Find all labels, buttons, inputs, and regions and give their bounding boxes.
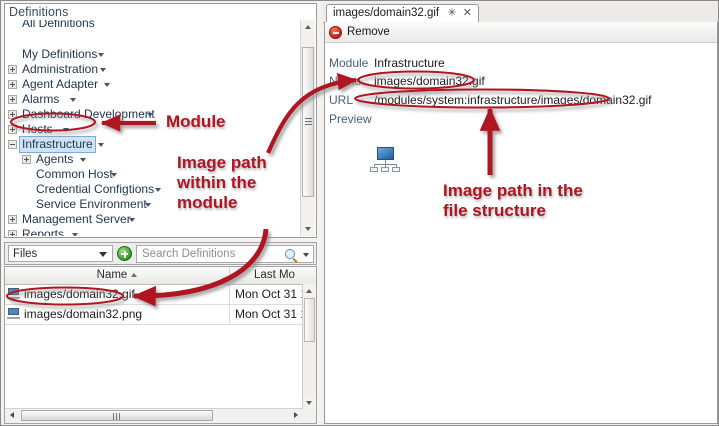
tree-node-label: Infrastructure	[20, 137, 95, 152]
scroll-left-button[interactable]	[5, 409, 19, 423]
tree-node-management-server[interactable]: Management Server	[6, 212, 315, 227]
tree-node-label: Dashboard Development	[22, 107, 155, 122]
expander-plus-icon[interactable]	[8, 95, 17, 104]
table-row[interactable]: images/domain32.gif Mon Oct 31 10:	[5, 284, 316, 305]
column-header-label: Name	[97, 269, 128, 281]
tree-node-all-definitions[interactable]: All Definitions	[6, 20, 315, 35]
editor-toolbar: Remove	[325, 22, 717, 43]
expander-plus-icon[interactable]	[22, 155, 31, 164]
files-table-header: Name Last Mo	[5, 267, 316, 285]
search-input[interactable]: Search Definitions	[136, 245, 314, 263]
tree-node-dashboard-development[interactable]: Dashboard Development	[6, 107, 315, 122]
field-label: Name	[329, 73, 361, 89]
application-window: Definitions All Definitions My Definitio…	[0, 0, 719, 426]
chevron-down-icon[interactable]	[72, 233, 78, 236]
tree-node-my-definitions[interactable]: My Definitions	[6, 47, 315, 62]
grip-icon	[113, 413, 121, 420]
tree-node-label: Administration	[22, 62, 98, 77]
column-header-label: Last Mo	[254, 269, 295, 281]
tree-node-label: Agent Adapter	[22, 77, 98, 92]
domain-network-preview-icon	[370, 147, 400, 172]
tree-node-alarms[interactable]: Alarms	[6, 92, 315, 107]
tree-node-administration[interactable]: Administration	[6, 62, 315, 77]
tree-node-label: Common Host	[36, 167, 113, 182]
tab-strip: images/domain32.gif ✳ ✕	[323, 2, 719, 23]
tree-node-label: Management Server	[22, 212, 131, 227]
files-toolbar: Files Search Definitions	[4, 242, 317, 265]
tree-node-label: Agents	[36, 152, 73, 167]
tree-node-label: My Definitions	[22, 47, 97, 62]
triangle-left-icon	[10, 412, 14, 418]
tree-node-label: All Definitions	[22, 20, 95, 31]
tree-node-service-environment[interactable]: Service Environment	[6, 197, 315, 212]
expander-plus-icon[interactable]	[8, 215, 17, 224]
file-name-text: images/domain32.gif	[24, 287, 135, 301]
triangle-up-icon	[305, 25, 311, 29]
chevron-down-icon[interactable]	[129, 218, 135, 222]
tree-node-label: Alarms	[22, 92, 59, 107]
definitions-panel-title: Definitions	[9, 5, 68, 19]
column-header-name[interactable]: Name	[5, 267, 230, 284]
left-column: Definitions All Definitions My Definitio…	[2, 2, 319, 425]
triangle-right-icon	[294, 412, 298, 418]
tree-node-infrastructure[interactable]: Infrastructure	[6, 137, 315, 152]
field-value: /modules/system:infrastructure/images/do…	[374, 92, 651, 108]
search-placeholder: Search Definitions	[142, 248, 235, 260]
files-horizontal-scrollbar[interactable]	[5, 408, 303, 423]
file-name-cell[interactable]: images/domain32.png	[5, 304, 230, 324]
editor-column: images/domain32.gif ✳ ✕ Remove Module In…	[323, 2, 719, 425]
file-name-text: images/domain32.png	[24, 307, 142, 321]
tree-node-agent-adapter[interactable]: Agent Adapter	[6, 77, 315, 92]
expander-minus-icon[interactable]	[8, 140, 17, 149]
definitions-tree-scroll-area[interactable]: All Definitions My Definitions Administr…	[6, 20, 315, 236]
expander-plus-icon[interactable]	[8, 125, 17, 134]
tree-node-hosts[interactable]: Hosts	[6, 122, 315, 137]
chevron-down-icon[interactable]	[155, 188, 161, 192]
field-value: images/domain32.gif	[374, 73, 485, 89]
chevron-down-icon[interactable]	[100, 68, 106, 72]
triangle-down-icon	[306, 401, 312, 405]
chevron-down-icon[interactable]	[111, 173, 117, 177]
remove-button-label: Remove	[347, 26, 390, 38]
field-label: Module	[329, 55, 368, 71]
tree-node-common-host[interactable]: Common Host	[6, 167, 315, 182]
tree-node-label: Reports	[22, 227, 64, 236]
triangle-down-icon	[305, 227, 311, 231]
file-name-cell[interactable]: images/domain32.gif	[5, 284, 230, 304]
column-header-last-modified[interactable]: Last Mo	[231, 267, 318, 284]
files-scroll-thumb[interactable]	[304, 298, 315, 342]
scroll-down-button[interactable]	[303, 396, 316, 409]
scroll-down-button[interactable]	[301, 222, 315, 236]
scroll-right-button[interactable]	[289, 409, 303, 423]
chevron-down-icon	[99, 252, 107, 257]
tree-node-reports[interactable]: Reports	[6, 227, 315, 236]
expander-plus-icon[interactable]	[8, 80, 17, 89]
files-filter-dropdown[interactable]: Files	[8, 245, 113, 262]
remove-button[interactable]: Remove	[329, 24, 390, 40]
chevron-down-icon[interactable]	[303, 253, 309, 257]
search-icon[interactable]	[285, 249, 295, 259]
image-file-icon	[7, 308, 20, 319]
tree-scroll-thumb[interactable]	[302, 47, 314, 197]
scroll-up-button[interactable]	[301, 20, 315, 34]
remove-icon	[329, 26, 342, 39]
files-vertical-scrollbar[interactable]	[302, 284, 316, 409]
chevron-down-icon[interactable]	[80, 158, 86, 162]
tab-images-domain32-gif[interactable]: images/domain32.gif ✳ ✕	[326, 4, 479, 23]
chevron-down-icon[interactable]	[98, 53, 104, 57]
grip-icon	[305, 118, 312, 126]
chevron-down-icon[interactable]	[104, 83, 110, 87]
tree-node-agents[interactable]: Agents	[6, 152, 315, 167]
scroll-up-button[interactable]	[303, 284, 316, 297]
close-icon[interactable]: ✕	[463, 7, 472, 19]
chevron-down-icon[interactable]	[145, 203, 151, 207]
tab-label: images/domain32.gif	[333, 7, 439, 19]
files-filter-value: Files	[13, 248, 37, 260]
triangle-up-icon	[306, 289, 312, 293]
tree-vertical-scrollbar[interactable]	[300, 20, 315, 236]
files-table-panel: Name Last Mo images/domain32.gif Mon Oct…	[4, 266, 317, 424]
scrollbar-corner	[303, 409, 316, 423]
tree-node-credential-configtions[interactable]: Credential Configtions	[6, 182, 315, 197]
table-row[interactable]: images/domain32.png Mon Oct 31 10:	[5, 304, 316, 325]
field-label: Preview	[329, 111, 372, 127]
expander-plus-icon[interactable]	[8, 110, 17, 119]
tree-node-label: Service Environment	[36, 197, 147, 212]
chevron-down-icon[interactable]	[147, 113, 153, 117]
add-definition-button[interactable]	[117, 246, 132, 261]
field-label: URL	[329, 92, 353, 108]
chevron-down-icon[interactable]	[63, 128, 69, 132]
image-file-icon	[7, 288, 20, 299]
chevron-down-icon[interactable]	[98, 143, 104, 147]
pin-icon[interactable]: ✳	[447, 7, 456, 19]
definition-editor: Remove Module Infrastructure Name images…	[324, 22, 718, 424]
chevron-down-icon[interactable]	[70, 98, 76, 102]
definitions-tree-panel: Definitions All Definitions My Definitio…	[4, 3, 317, 238]
tree-node-label: Hosts	[22, 122, 53, 137]
files-hscroll-thumb[interactable]	[21, 410, 213, 421]
sort-ascending-icon	[131, 273, 137, 277]
tree-node-label: Credential Configtions	[36, 182, 154, 197]
expander-plus-icon[interactable]	[8, 65, 17, 74]
expander-plus-icon[interactable]	[8, 230, 17, 236]
field-value: Infrastructure	[374, 55, 445, 71]
